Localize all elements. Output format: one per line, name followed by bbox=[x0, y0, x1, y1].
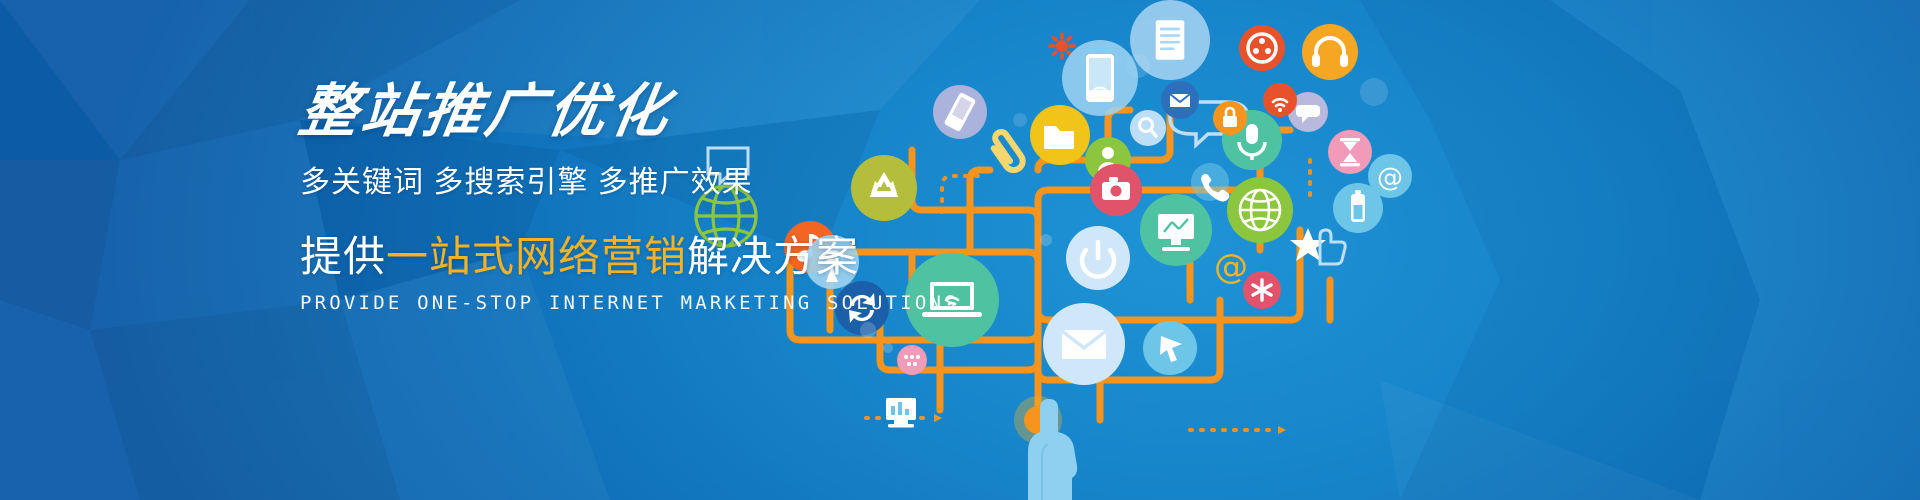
promo-banner: 整站推广优化 多关键词 多搜索引擎 多推广效果 提供一站式网络营销解决方案 PR… bbox=[0, 0, 1920, 500]
tagline-prefix: 提供 bbox=[300, 233, 386, 280]
node-lock-icon bbox=[1213, 101, 1247, 135]
node-asterisk-icon bbox=[1243, 271, 1281, 309]
node-headphones-icon bbox=[1302, 24, 1358, 80]
node-camera-icon bbox=[1090, 164, 1142, 216]
node-dots-icon bbox=[897, 345, 927, 375]
node-document-icon bbox=[1130, 0, 1210, 80]
tagline-suffix: 解决方案 bbox=[687, 233, 859, 280]
english-tagline: PROVIDE ONE-STOP INTERNET MARKETING SOLU… bbox=[300, 292, 1060, 314]
svg-text:@: @ bbox=[1377, 163, 1403, 193]
node-envelope-icon bbox=[1043, 303, 1125, 385]
node-at-sign-icon: @ bbox=[1214, 247, 1248, 287]
node-phone-signal-icon bbox=[1191, 163, 1230, 202]
node-search-icon bbox=[1130, 110, 1166, 146]
node-at-circle-icon: @ bbox=[1368, 154, 1412, 198]
subline: 多关键词 多搜索引擎 多推广效果 bbox=[300, 168, 1060, 198]
node-cursor-icon bbox=[1143, 321, 1197, 375]
node-thumbs-up-icon bbox=[1320, 230, 1345, 264]
svg-text:@: @ bbox=[1214, 247, 1248, 287]
node-chart-monitor-icon bbox=[886, 398, 916, 428]
node-envelope-small-icon bbox=[1161, 81, 1199, 119]
node-globe-grid-icon bbox=[1227, 177, 1293, 243]
node-smartphone-wifi-icon bbox=[1062, 40, 1138, 116]
node-monitor-icon bbox=[1140, 194, 1212, 266]
tagline: 提供一站式网络营销解决方案 bbox=[300, 236, 1060, 278]
copy-block: 整站推广优化 多关键词 多搜索引擎 多推广效果 提供一站式网络营销解决方案 PR… bbox=[300, 82, 1060, 314]
headline: 整站推广优化 bbox=[295, 82, 1064, 140]
node-gear-icon bbox=[1239, 25, 1285, 71]
node-hourglass-icon bbox=[1328, 130, 1372, 174]
node-wifi-icon bbox=[1263, 83, 1297, 117]
tagline-highlight: 一站式网络营销 bbox=[386, 233, 687, 280]
node-power-icon bbox=[1066, 226, 1130, 290]
